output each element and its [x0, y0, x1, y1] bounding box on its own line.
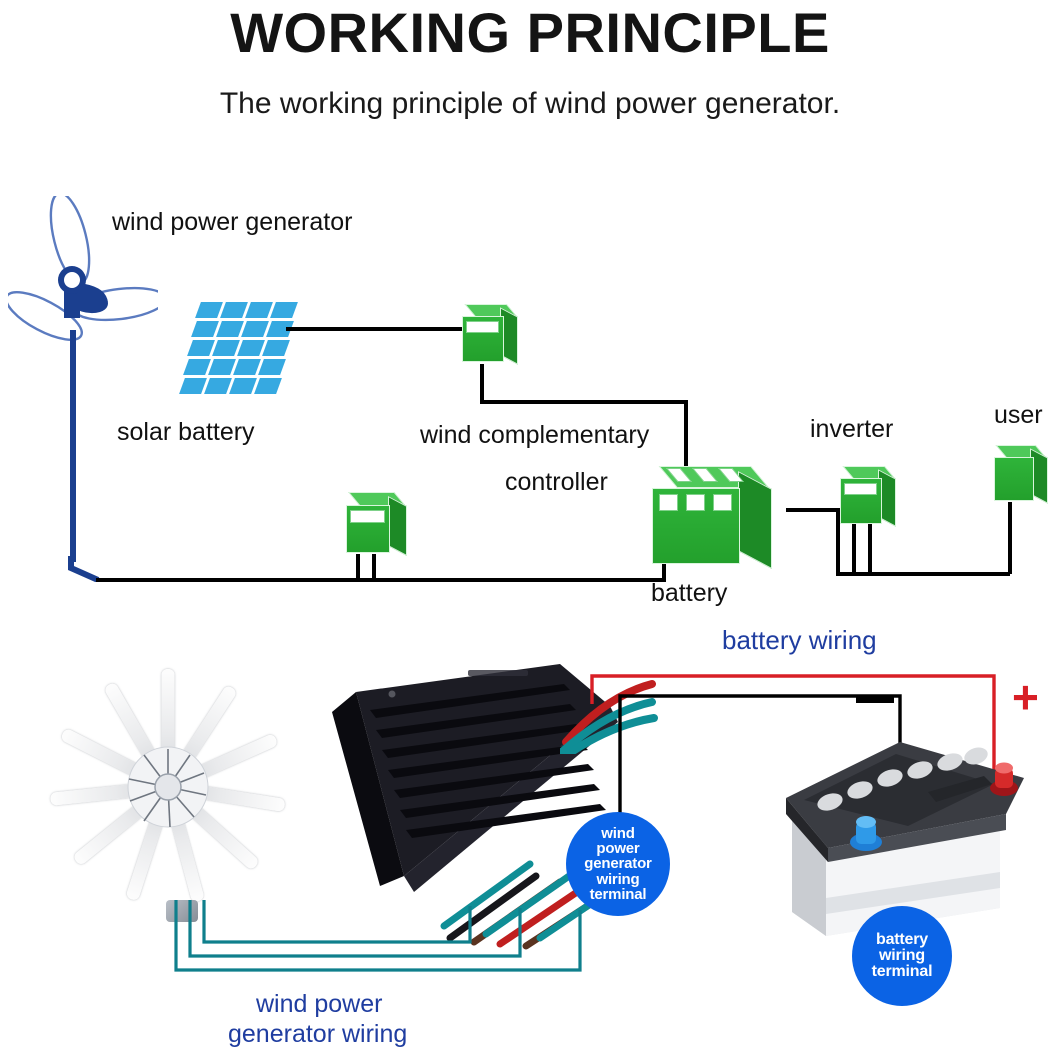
wire-inverter-leg-left — [852, 524, 856, 574]
wire-controller-right — [480, 400, 688, 404]
label-wind-power-generator: wind power generator — [112, 207, 352, 237]
label-battery-wiring: battery wiring — [722, 626, 877, 655]
label-user: user — [994, 400, 1043, 430]
wire-main-bus — [96, 578, 666, 582]
page-title: WORKING PRINCIPLE — [0, 2, 1060, 64]
wire-controller-down — [480, 364, 484, 404]
label-wind-complementary-controller-l2: controller — [505, 467, 608, 497]
generator-wiring-lines — [150, 892, 630, 1012]
callout-battery-wiring-terminal[interactable]: battery wiring terminal — [852, 906, 952, 1006]
wire-battery-to-inverter — [786, 508, 840, 512]
device-box-controller-top — [460, 304, 524, 366]
label-generator-wiring-l1: wind power — [256, 990, 382, 1019]
device-box-user — [992, 445, 1054, 505]
wire-inverter-leg-right — [868, 524, 872, 574]
wire-solar-to-controller — [286, 327, 466, 331]
device-box-inverter — [838, 466, 902, 528]
callout-generator-text: wind power generator wiring terminal — [584, 826, 651, 902]
label-wind-complementary-controller-l1: wind complementary — [420, 420, 649, 450]
device-box-generator-side — [344, 492, 414, 558]
page-subtitle: The working principle of wind power gene… — [0, 84, 1060, 124]
label-generator-wiring-l2: generator wiring — [228, 1020, 407, 1049]
wire-inverter-to-user-bus — [836, 572, 1010, 576]
turbine-mast — [70, 330, 76, 562]
label-battery: battery — [651, 578, 727, 608]
wire-user-leg — [1008, 502, 1012, 574]
solar-panel-icon — [182, 302, 302, 402]
label-inverter: inverter — [810, 414, 893, 444]
label-solar-battery: solar battery — [117, 417, 255, 447]
device-box-battery — [650, 466, 786, 576]
callout-battery-text: battery wiring terminal — [872, 932, 933, 981]
callout-generator-wiring-terminal[interactable]: wind power generator wiring terminal — [566, 812, 670, 916]
